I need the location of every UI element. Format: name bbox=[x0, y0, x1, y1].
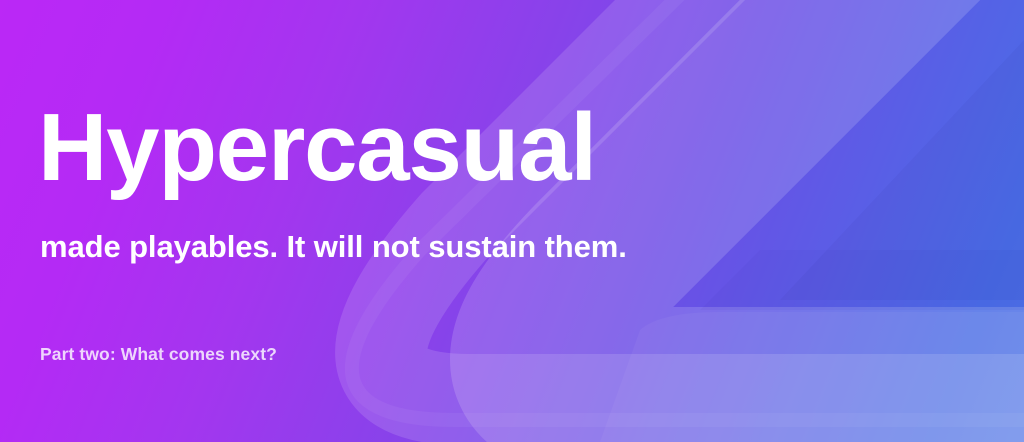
hero-banner: Hypercasual made playables. It will not … bbox=[0, 0, 1024, 442]
text-layer: Hypercasual made playables. It will not … bbox=[0, 0, 1024, 442]
page-subtitle: made playables. It will not sustain them… bbox=[40, 229, 627, 265]
page-title: Hypercasual bbox=[38, 100, 596, 196]
page-caption: Part two: What comes next? bbox=[40, 344, 277, 365]
